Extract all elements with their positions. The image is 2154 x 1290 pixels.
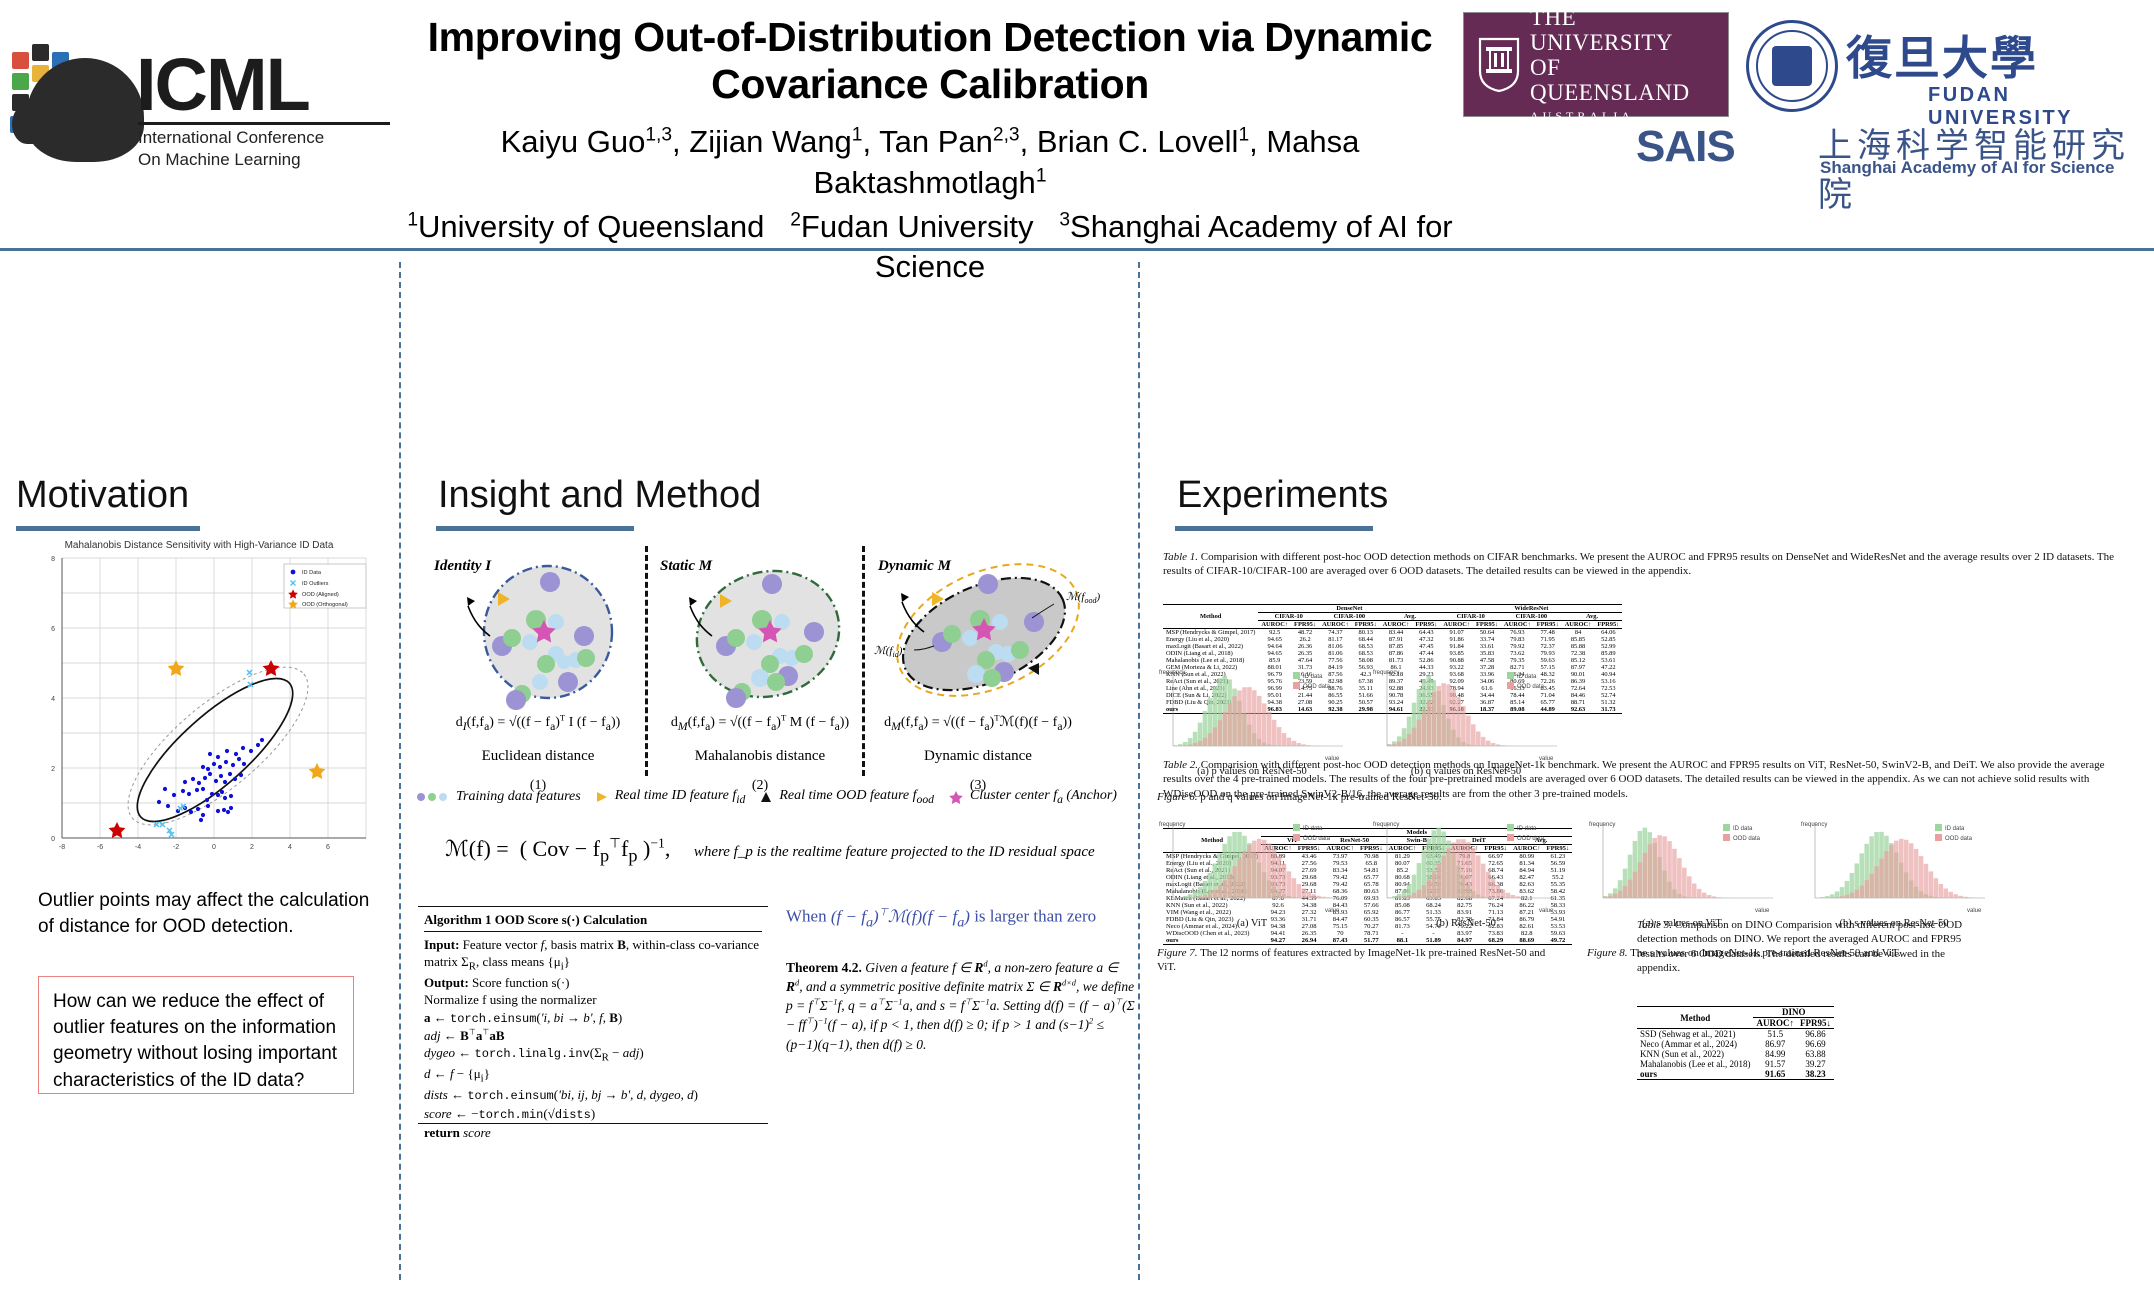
table1-cell: 33.61 [1473,643,1501,650]
panel-dynamic: Dynamic M ℳ(food) ℳ(fid) [868,550,1122,780]
panel-identity: Identity I dI(f,fa) = √((f − fa) [428,550,648,780]
table1-row-method: ODIN (Liang et al., 2018) [1163,650,1258,657]
section-title-insight: Insight and Method [438,474,761,517]
table1-cell: 47.64 [1291,657,1319,664]
table1-metric-6: AUROC↑ [1440,621,1473,629]
table3-group-dino: DINO [1753,1007,1834,1018]
fig6b-ylabel: frequency [1373,670,1399,676]
table1-cell: 94.64 [1258,643,1291,650]
sais-logo: SAIS 上海科学智能研究院 Shanghai Academy of AI fo… [1636,118,2154,178]
motivation-question-text: How can we reduce the effect of outlier … [53,989,339,1094]
insight-legend: Training data features Real time ID feat… [416,788,1122,806]
table2-row: WDiscOOD (Chen et al., 2023)94.4126.3570… [1163,930,1572,937]
table1-cell: 88.71 [1562,699,1595,706]
table1-cell: 80.13 [1352,629,1380,637]
table1-cell: 35.83 [1473,650,1501,657]
table1-row: maxLogit (Basart et al., 2022)94.6426.36… [1163,643,1622,650]
panel-annotation-m-food: ℳ(food) [1066,591,1100,605]
svg-text:6: 6 [326,844,330,851]
panel-label-identity: Identity I [434,558,491,575]
table1-cell: 59.63 [1534,657,1562,664]
table1-cell: 77.48 [1534,629,1562,637]
table1-cell: 91.86 [1440,636,1473,643]
uq-line-1: THE UNIVERSITY [1530,6,1714,56]
panel-caption-static: Mahalanobis distance [650,748,870,765]
table1-cell: 68.44 [1352,636,1380,643]
fig6a-legend: ID dataOOD data [1293,672,1331,690]
table3-cell: 86.97 [1753,1039,1797,1049]
table1-cell: 76.93 [1501,629,1534,637]
fig8a-caption: (a) s values on ViT [1587,918,1777,929]
legend-circles-icon [416,791,450,803]
table3-row-method: KNN (Sun et al., 2022) [1637,1049,1753,1059]
fig8a-legend: ID dataOOD data [1723,824,1761,842]
table2-cell: - [1419,930,1448,937]
table1-cell: 74.37 [1319,629,1352,637]
table1-cell: 73.62 [1501,650,1534,657]
table1-cell: 79.92 [1501,643,1534,650]
fig8b-ylabel: frequency [1801,822,1827,828]
svg-text:ID data: ID data [1517,674,1537,680]
section-title-motivation: Motivation [16,474,189,517]
table2-cell: 78.71 [1357,930,1386,937]
table1-cell: 26.36 [1291,643,1319,650]
table1-cell: 91.84 [1440,643,1473,650]
table1-cell: 31.73 [1594,706,1622,714]
theorem-box: Theorem 4.2. Given a feature f ∈ Rd, a n… [786,958,1136,1054]
svg-text:-8: -8 [59,844,65,851]
table2-cell: 70 [1323,930,1356,937]
table2-cell: 87.43 [1323,937,1356,945]
fig8a-xlabel: value [1755,908,1770,914]
table1-cell: 84 [1562,629,1595,637]
table1-cell: 47.22 [1594,664,1622,671]
table1-cell: 53.16 [1594,678,1622,685]
poster-header: ICML International Conference On Machine… [0,0,2154,248]
table1-header-method: Method [1163,605,1258,629]
table3-cell: 51.5 [1753,1029,1797,1040]
table2-cell: 84.97 [1448,937,1481,945]
panel-equation-identity: dI(f,fa) = √((f − fa)T I (f − fa)) [428,712,648,732]
dynamic-metric-equation-lhs: ℳ(f) = ( Cov − fp⊤fp )−1, [445,836,676,861]
section-rule-motivation [16,526,200,531]
table1-cell: 87.97 [1562,664,1595,671]
table1-metric-8: AUROC↑ [1501,621,1534,629]
table1-cell: 72.64 [1562,685,1595,692]
table1-row: Mahalanobis (Lee et al., 2018)85.947.647… [1163,657,1622,664]
table1-cell: 53.61 [1594,657,1622,664]
table1-metric-9: FPR95↓ [1534,621,1562,629]
table2-cell: 49.72 [1544,937,1573,945]
table1-cell: 90.88 [1440,657,1473,664]
header-divider [0,248,2154,251]
fig7b-caption: (b) ResNet-50 [1371,918,1561,929]
table3-row-method: ours [1637,1069,1753,1080]
algorithm-output-line: Output: Score function s(·) [424,974,762,991]
mahalanobis-scatter-figure: Mahalanobis Distance Sensitivity with Hi… [22,540,376,880]
fig7b-xlabel: value [1539,908,1554,914]
table2-cell: 88.1 [1386,937,1419,945]
svg-text:6: 6 [51,626,55,633]
svg-text:0: 0 [51,836,55,843]
table1-cell: 94.65 [1258,650,1291,657]
panel-caption-identity: Euclidean distance [428,748,648,765]
table1-metric-7: FPR95↓ [1473,621,1501,629]
legend-label-id-feature: Real time ID feature fid [615,788,746,806]
fig8b-legend: ID dataOOD data [1935,824,1973,842]
table3-metric-1: FPR95↓ [1797,1018,1834,1029]
table2-cell: 82.8 [1510,930,1543,937]
calibrated-ellipse [118,658,312,842]
algorithm-line-6: score ← −torch.min(√dists) [424,1105,762,1124]
svg-text:ID data: ID data [1303,826,1323,832]
legend-item-ood-feature: Real time OOD feature food [759,788,934,806]
svg-text:OOD data: OOD data [1517,836,1545,842]
svg-text:4: 4 [51,696,55,703]
table3-row-method: Mahalanobis (Lee et al., 2018) [1637,1059,1753,1069]
histogram-fig8a: frequencyvalueID dataOOD data [1587,818,1777,914]
table2-cell: 68.29 [1481,937,1510,945]
table1-cell: 81.06 [1319,643,1352,650]
figure8-note: Figure 8. The s values on ImageNet-1k pr… [1587,946,1987,960]
table1-cell: 93.85 [1440,650,1473,657]
table1-caption-label: Table 1. [1163,551,1198,563]
table1-cell: 47.45 [1412,643,1440,650]
dynamic-metric-equation: ℳ(f) = ( Cov − fp⊤fp )−1, where f_p is t… [420,836,1120,867]
fig6a-caption: (a) p values on ResNet-50 [1157,766,1347,777]
panel-equation-dynamic: dM(f,fa) = √((f − fa)Tℳ(f)(f − fa)) [868,712,1088,732]
icml-logo: ICML International Conference On Machine… [8,18,398,178]
table2-cell: 73.83 [1481,930,1510,937]
scatter-series-ood-orthogonal [168,660,326,779]
panel-label-static: Static M [660,558,712,575]
section-title-experiments: Experiments [1177,474,1388,517]
algorithm-input-label: Input: [424,937,459,952]
table1-caption: Table 1. Comparision with different post… [1163,550,2123,579]
table3-row-method: Neco (Ammar et al., 2024) [1637,1039,1753,1049]
scatter-series-id-outliers [154,670,253,837]
legend-star-magenta-icon [948,790,964,804]
fig6b-caption: (b) q values on ResNet-50 [1371,766,1561,777]
fig7b-ylabel: frequency [1373,822,1399,828]
scatter-legend-label-0: ID Data [302,570,322,576]
table1-cell: 72.37 [1534,643,1562,650]
fig6a-ylabel: frequency [1159,670,1185,676]
table3-row: Mahalanobis (Lee et al., 2018)91.5739.27 [1637,1059,1834,1069]
table3-cell: 84.99 [1753,1049,1797,1059]
uq-shield-icon [1478,37,1520,93]
table1-cell: 85.89 [1594,650,1622,657]
scatter-series-id-data [157,738,264,822]
table3-cell: 91.65 [1753,1069,1797,1080]
table1-subheader-1: CIFAR-100 [1319,613,1380,621]
table1-cell: 77.56 [1319,657,1352,664]
algorithm-line-4: d ← f − {μi} [424,1065,762,1086]
table1-cell: 85.9 [1258,657,1291,664]
table1-row: ODIN (Liang et al., 2018)94.6526.3581.06… [1163,650,1622,657]
table3-row: KNN (Sun et al., 2022)84.9963.88 [1637,1049,1834,1059]
figure6-note: Figure 6. p and q values on ImageNet-1k … [1157,790,1557,804]
figure7-note: Figure 7. The l2 norms of features extra… [1157,946,1557,974]
table1-row: MSP (Hendrycks & Gimpel, 2017)92.548.727… [1163,629,1622,637]
svg-text:2: 2 [250,844,254,851]
uq-line-2: OF QUEENSLAND [1530,56,1714,106]
fudan-logo-chinese: 復旦大學 [1846,22,2038,88]
table1-cell: 90.01 [1562,671,1595,678]
table1-cell: 64.43 [1412,629,1440,637]
sais-wordmark: SAIS [1636,122,1735,172]
column-experiments: Experiments Table 1. Comparision with di… [1139,258,2154,1290]
table3-cell: 91.57 [1753,1059,1797,1069]
fig6b-legend: ID dataOOD data [1507,672,1545,690]
table1-metric-2: AUROC↑ [1319,621,1352,629]
panel-annotation-m-fid: ℳ(fid) [874,645,903,659]
algorithm-line-3: dygeo ← torch.linalg.inv(ΣR − adj) [424,1044,762,1065]
table3-header-method: Method [1637,1007,1753,1029]
histogram-fig6a: frequencyvalueID dataOOD data [1157,666,1347,762]
table3-cell: 96.86 [1797,1029,1834,1040]
algorithm-input-text: Feature vector f, basis matrix B, within… [424,937,759,969]
panel-label-dynamic: Dynamic M [878,558,951,575]
table3-row: SSD (Sehwag et al., 2021)51.596.86 [1637,1029,1834,1040]
fig8b-caption: (b) s values on ResNet-50 [1799,918,1989,929]
table2-cell: 94.41 [1261,930,1294,937]
uq-logo: THE UNIVERSITY OF QUEENSLAND AUSTRALIA [1463,12,1729,117]
table1-row-method: MSP (Hendrycks & Gimpel, 2017) [1163,629,1258,637]
fig7a-caption: (a) ViT [1157,918,1347,929]
table1-cell: 79.83 [1501,636,1534,643]
table1-cell: 47.44 [1412,650,1440,657]
table1-metric-10: AUROC↑ [1562,621,1595,629]
title-block: Improving Out-of-Distribution Detection … [400,14,1460,287]
svg-text:OOD data: OOD data [1303,684,1331,690]
table2-cell: 83.97 [1448,930,1481,937]
table1-metric-4: AUROC↑ [1380,621,1413,629]
original-ellipse [105,642,331,850]
table3-cell: 38.23 [1797,1069,1834,1080]
table1-metric-0: AUROC↑ [1258,621,1291,629]
table1-row-method: maxLogit (Basart et al., 2022) [1163,643,1258,650]
table1-cell: 26.2 [1291,636,1319,643]
scatter-legend-label-2: OOD (Aligned) [302,592,339,598]
fig6b-xlabel: value [1539,756,1554,762]
legend-label-ood-feature: Real time OOD feature food [779,788,934,806]
motivation-question-box: How can we reduce the effect of outlier … [38,976,354,1094]
fudan-seal-core [1772,46,1812,86]
table1-metric-3: FPR95↓ [1352,621,1380,629]
table1-cell: 58.08 [1352,657,1380,664]
legend-item-training-features: Training data features [416,789,581,805]
scatter-legend: ID Data ID Outliers OOD (Aligned) OOD (O… [284,564,366,609]
table1-cell: 26.35 [1291,650,1319,657]
svg-text:OOD data: OOD data [1945,836,1973,842]
table2-cell: 94.27 [1261,937,1294,945]
panel-caption-dynamic: Dynamic distance [868,748,1088,765]
table1-cell: 40.94 [1594,671,1622,678]
algorithm-line-1: a ← torch.einsum('i, bi → b', f, B) [424,1009,762,1028]
fig7a-ylabel: frequency [1159,822,1185,828]
scatter-plot-svg: 8 6 4 2 0 -8 -6 -4 -2 0 2 4 6 [22,550,376,870]
table1-cell: 52.86 [1412,657,1440,664]
column-motivation: Motivation Mahalanobis Distance Sensitiv… [0,258,399,1290]
table1-cell: 84.46 [1562,692,1595,699]
panel-equation-static: dM(f,fa) = √((f − fa)T M (f − fa)) [650,712,870,732]
table1-caption-text: Comparision with different post-hoc OOD … [1163,551,2114,577]
algorithm-title: Algorithm 1 OOD Score s(·) Calculation [424,911,762,932]
table1-cell: 33.74 [1473,636,1501,643]
icml-rule [138,122,390,125]
table1-subheader-2: Avg. [1380,613,1441,621]
table1-cell: 87.85 [1380,643,1413,650]
table1-cell: 68.53 [1352,650,1380,657]
svg-text:OOD data: OOD data [1517,684,1545,690]
table1-metric-11: FPR95↓ [1594,621,1622,629]
table2-row-method: WDiscOOD (Chen et al., 2023) [1163,930,1261,937]
svg-text:-6: -6 [97,844,103,851]
table2-cell: 51.77 [1357,937,1386,945]
fig7b-legend: ID dataOOD data [1507,824,1545,842]
algorithm-line-0: Normalize f using the normalizer [424,991,762,1008]
table1-cell: 83.44 [1380,629,1413,637]
table1-cell: 85.12 [1562,657,1595,664]
table2-row-method: ours [1163,937,1261,945]
table1-cell: 81.17 [1319,636,1352,643]
algorithm-output-text: Score function s(·) [472,975,569,990]
table1-cell: 91.07 [1440,629,1473,637]
legend-label-training-features: Training data features [456,789,581,805]
svg-text:ID data: ID data [1945,826,1965,832]
poster-title-line-1: Improving Out-of-Distribution Detection … [428,14,1433,60]
section-rule-insight [436,526,634,531]
legend-triangle-up-icon [595,791,609,803]
fig8b-xlabel: value [1967,908,1982,914]
table1-cell: 87.86 [1380,650,1413,657]
table1-cell: 48.72 [1291,629,1319,637]
table1-cell: 47.58 [1473,657,1501,664]
fudan-seal-icon [1746,20,1838,112]
algorithm-box: Algorithm 1 OOD Score s(·) Calculation I… [418,906,768,1124]
table1-cell: 68.53 [1352,643,1380,650]
table1-cell: 85.88 [1562,643,1595,650]
table1-cell: 50.64 [1473,629,1501,637]
table1-metric-5: FPR95↓ [1412,621,1440,629]
table1-cell: 72.53 [1594,685,1622,692]
svg-text:ID data: ID data [1517,826,1537,832]
svg-text:4: 4 [288,844,292,851]
table1-cell: 94.65 [1258,636,1291,643]
scatter-legend-label-3: OOD (Orthogonal) [302,602,348,608]
table1-cell: 79.93 [1534,650,1562,657]
algorithm-line-2: adj ← B⊤a⊤aB [424,1027,762,1044]
table1-cell: 52.74 [1594,692,1622,699]
table1-metric-1: FPR95↓ [1291,621,1319,629]
table3-row: Neco (Ammar et al., 2024)86.9796.69 [1637,1039,1834,1049]
table3-cell: 63.88 [1797,1049,1834,1059]
table1-cell: 81.73 [1380,657,1413,664]
table2-row: ours94.2726.9487.4351.7788.151.8984.9768… [1163,937,1572,945]
table1-cell: 47.32 [1412,636,1440,643]
scatter-series-ood-aligned [109,660,280,838]
table1-cell: 79.35 [1501,657,1534,664]
table1-cell: 86.39 [1562,678,1595,685]
table2-cell: - [1386,930,1419,937]
table1-subheader-5: Avg. [1562,613,1623,621]
legend-triangle-black-icon [759,791,773,803]
page-title: Improving Out-of-Distribution Detection … [400,14,1460,108]
fig7a-xlabel: value [1325,908,1340,914]
algorithm-input-line: Input: Feature vector f, basis matrix B,… [424,936,762,974]
table1-row: Energy (Liu et al., 2020)94.6526.281.176… [1163,636,1622,643]
table3-cell: 96.69 [1797,1039,1834,1049]
table1-cell: 71.95 [1534,636,1562,643]
table2-cell: 59.63 [1544,930,1573,937]
motivation-statement: Outlier points may affect the calculatio… [38,888,388,939]
panel-static: Static M dM(f,fa) = √((f − fa)T [650,550,870,780]
table1-subheader-0: CIFAR-10 [1258,613,1319,621]
table1-subheader-3: CIFAR-10 [1440,613,1501,621]
poster-title-line-2: Covariance Calibration [711,61,1149,107]
histogram-fig7a: frequencyvalueID dataOOD data [1157,818,1347,914]
svg-text:2: 2 [51,766,55,773]
table1-cell: 72.38 [1562,650,1595,657]
table1-cell: 81.06 [1319,650,1352,657]
fig7a-legend: ID dataOOD data [1293,824,1331,842]
legend-label-cluster-center: Cluster center fa (Anchor) [970,788,1117,806]
svg-text:OOD data: OOD data [1303,836,1331,842]
table2-cell: 26.94 [1295,937,1324,945]
author-list: Kaiyu Guo1,3, Zijian Wang1, Tan Pan2,3, … [400,122,1460,203]
uq-logo-text: THE UNIVERSITY OF QUEENSLAND AUSTRALIA [1530,6,1714,122]
table2-cell: 88.69 [1510,937,1543,945]
table3-row: ours91.6538.23 [1637,1069,1834,1080]
column-insight-method: Insight and Method Identity I [400,258,1138,1290]
table1-cell: 51.32 [1594,699,1622,706]
svg-text:ID data: ID data [1733,826,1753,832]
svg-text:-4: -4 [135,844,141,851]
sais-logo-english: Shanghai Academy of AI for Science [1820,158,2114,178]
svg-text:-2: -2 [173,844,179,851]
table2-cell: 51.89 [1419,937,1448,945]
icml-subtitle-1: International Conference [138,128,324,148]
table1-cell: 87.91 [1380,636,1413,643]
legend-item-id-feature: Real time ID feature fid [595,788,746,806]
table1-cell: 52.85 [1594,636,1622,643]
table1-row-method: Energy (Liu et al., 2020) [1163,636,1258,643]
table3-row-method: SSD (Sehwag et al., 2021) [1637,1029,1753,1040]
table3-metric-0: AUROC↑ [1753,1018,1797,1029]
svg-text:8: 8 [51,556,55,563]
icml-wordmark: ICML [136,42,309,127]
table3-dino-results: MethodDINOAUROC↑FPR95↓SSD (Sehwag et al.… [1637,1006,1834,1080]
table1-group-densenet: DenseNet [1258,605,1440,613]
histogram-fig8b: frequencyvalueID dataOOD data [1799,818,1989,914]
table3-cell: 39.27 [1797,1059,1834,1069]
fig8a-ylabel: frequency [1589,822,1615,828]
histogram-fig6b: frequencyvalueID dataOOD data [1371,666,1561,762]
fudan-logo: 復旦大學 FUDAN UNIVERSITY [1742,12,2154,122]
scatter-legend-label-1: ID Outliers [302,581,329,587]
svg-text:0: 0 [212,844,216,851]
theorem-banner: When (f − fa)⊤ℳ(f)(f − fa) is larger tha… [786,906,1134,931]
table1-cell: 92.63 [1562,706,1595,714]
table1-cell: 52.99 [1594,643,1622,650]
algorithm-output-label: Output: [424,975,469,990]
svg-text:OOD data: OOD data [1733,836,1761,842]
table1-cell: 92.5 [1258,629,1291,637]
table1-row-method: Mahalanobis (Lee et al., 2018) [1163,657,1258,664]
icml-subtitle-2: On Machine Learning [138,150,301,170]
algorithm-return: return score [424,1124,762,1141]
